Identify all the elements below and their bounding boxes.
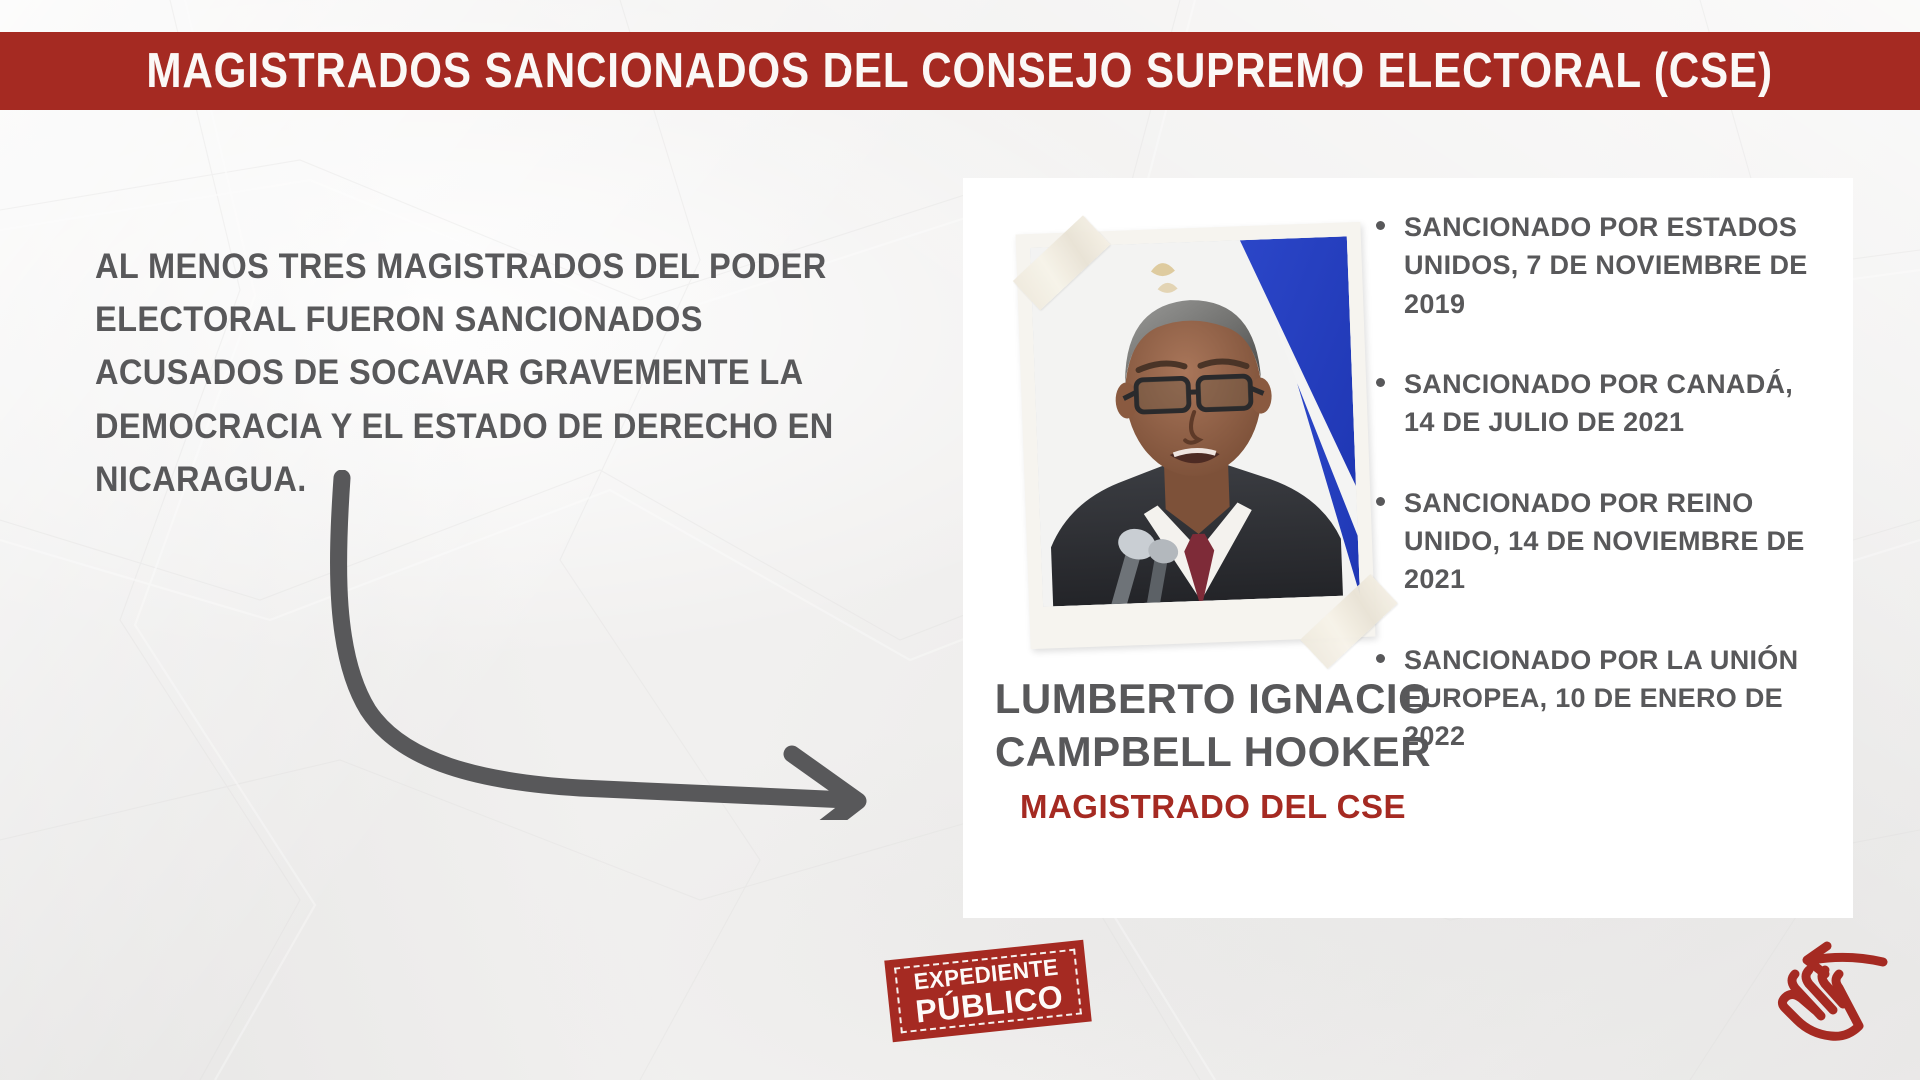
page-title: MAGISTRADOS SANCIONADOS DEL CONSEJO SUPR… (147, 43, 1773, 99)
list-item: SANCIONADO POR ESTADOS UNIDOS, 7 DE NOVI… (1368, 208, 1823, 323)
intro-paragraph: AL MENOS TRES MAGISTRADOS DEL PODER ELEC… (95, 240, 858, 506)
person-photo (1030, 236, 1360, 606)
list-item: SANCIONADO POR LA UNIÓN EUROPEA, 10 DE E… (1368, 641, 1823, 756)
header-banner: MAGISTRADOS SANCIONADOS DEL CONSEJO SUPR… (0, 32, 1920, 110)
list-item: SANCIONADO POR REINO UNIDO, 14 DE NOVIEM… (1368, 484, 1823, 599)
list-item: SANCIONADO POR CANADÁ, 14 DE JULIO DE 20… (1368, 365, 1823, 442)
curved-arrow (330, 470, 910, 820)
profile-card: LUMBERTO IGNACIO CAMPBELL HOOKER MAGISTR… (963, 178, 1853, 918)
swipe-left-hand-icon[interactable] (1775, 940, 1895, 1060)
sanctions-list: SANCIONADO POR ESTADOS UNIDOS, 7 DE NOVI… (1368, 208, 1823, 798)
polaroid-frame (1016, 222, 1376, 649)
